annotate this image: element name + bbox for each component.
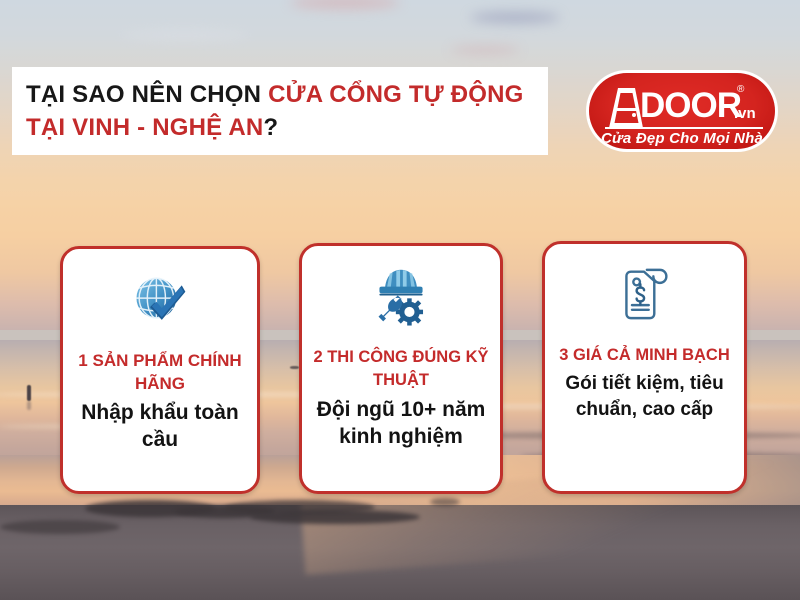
logo-red-badge: DOOR ® .vn Cửa Đẹp Cho Mọi Nhà — [589, 73, 775, 149]
card-2-icon-wrap — [302, 246, 500, 332]
price-tag-dollar-icon — [619, 264, 671, 324]
globe-check-icon — [131, 270, 189, 328]
headline-banner: TẠI SAO NÊN CHỌN CỬA CỔNG TỰ ĐỘNG TẠI VI… — [12, 67, 548, 155]
card-3-icon-wrap — [545, 244, 744, 330]
registered-mark-icon: ® — [737, 85, 744, 95]
distant-boat — [290, 366, 299, 369]
logo-tld-text: .vn — [734, 106, 756, 121]
card-3-title: 3 GIÁ CẢ MINH BẠCH — [545, 344, 744, 367]
card-3-subtitle: Gói tiết kiệm, tiêu chuẩn, cao cấp — [545, 371, 744, 423]
person-reflection — [27, 401, 31, 410]
door-a-icon — [605, 86, 645, 130]
card-1-subtitle: Nhập khẩu toàn cầu — [63, 399, 257, 453]
wrench-gear-part — [379, 296, 424, 326]
card-2-title: 2 THI CÔNG ĐÚNG KỸ THUẬT — [302, 346, 500, 392]
cloud-icon — [120, 30, 250, 40]
person-on-beach — [27, 385, 31, 401]
headline-line-1: TẠI SAO NÊN CHỌN CỬA CỔNG TỰ ĐỘNG — [26, 78, 548, 111]
feature-card-1[interactable]: 1 SẢN PHẨM CHÍNH HÃNG Nhập khẩu toàn cầu — [60, 246, 260, 494]
hardhat-wrench-gear-icon — [371, 265, 431, 327]
cloud-icon — [450, 46, 520, 54]
headline-line-1-black: TẠI SAO NÊN CHỌN — [26, 81, 268, 108]
feature-card-2[interactable]: 2 THI CÔNG ĐÚNG KỸ THUẬT Đội ngũ 10+ năm… — [299, 243, 503, 494]
headline-question-mark: ? — [263, 114, 278, 141]
feature-card-3[interactable]: 3 GIÁ CẢ MINH BẠCH Gói tiết kiệm, tiêu c… — [542, 241, 747, 494]
logo-tagline: Cửa Đẹp Cho Mọi Nhà — [589, 130, 775, 147]
headline-line-2-red: TẠI VINH - NGHỆ AN — [26, 114, 263, 141]
cloud-icon — [470, 12, 560, 23]
logo-brand-text: DOOR — [640, 86, 741, 126]
card-2-subtitle: Đội ngũ 10+ năm kinh nghiệm — [302, 396, 500, 450]
headline-line-2: TẠI VINH - NGHỆ AN? — [26, 111, 548, 144]
headline-line-1-red: CỬA CỔNG TỰ ĐỘNG — [268, 81, 523, 108]
adoor-logo[interactable]: DOOR ® .vn Cửa Đẹp Cho Mọi Nhà — [586, 70, 778, 152]
seaweed-clump — [430, 498, 460, 506]
card-1-icon-wrap — [63, 249, 257, 335]
hardhat-part — [379, 270, 422, 296]
promo-poster: TẠI SAO NÊN CHỌN CỬA CỔNG TỰ ĐỘNG TẠI VI… — [0, 0, 800, 600]
seaweed-clump — [0, 520, 120, 534]
seaweed-clump — [250, 510, 420, 524]
card-1-title: 1 SẢN PHẨM CHÍNH HÃNG — [63, 349, 257, 395]
cloud-icon — [290, 0, 400, 9]
logo-divider — [605, 127, 763, 129]
